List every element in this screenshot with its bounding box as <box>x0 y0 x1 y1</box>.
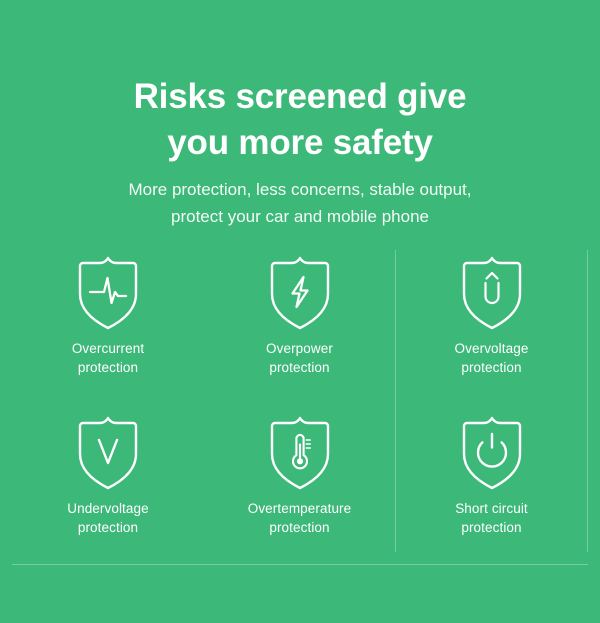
feature-cell-overcurrent: Overcurrent protection <box>12 245 204 405</box>
feature-cell-overtemperature: Overtemperature protection <box>204 405 396 565</box>
promo-banner: Risks screened give you more safety More… <box>0 0 600 623</box>
feature-label-line-2: protection <box>72 358 144 377</box>
feature-label-line-2: protection <box>455 358 529 377</box>
feature-label-line-2: protection <box>455 518 528 537</box>
shield-power-icon <box>456 411 528 493</box>
feature-label-overvoltage: Overvoltage protection <box>455 339 529 377</box>
feature-cell-overpower: Overpower protection <box>204 245 396 405</box>
feature-label-overcurrent: Overcurrent protection <box>72 339 144 377</box>
feature-label-line-2: protection <box>67 518 149 537</box>
feature-label-overpower: Overpower protection <box>266 339 333 377</box>
feature-label-line-2: protection <box>248 518 352 537</box>
page-title: Risks screened give you more safety <box>0 74 600 166</box>
shield-voltage-up-icon <box>456 251 528 333</box>
feature-cell-short-circuit: Short circuit protection <box>396 405 588 565</box>
feature-label-overtemperature: Overtemperature protection <box>248 499 352 537</box>
feature-label-line-1: Undervoltage <box>67 499 149 518</box>
page-title-line-2: you more safety <box>0 120 600 166</box>
shield-lightning-icon <box>264 251 336 333</box>
page-subtitle: More protection, less concerns, stable o… <box>0 176 600 230</box>
shield-thermometer-icon <box>264 411 336 493</box>
shield-pulse-icon <box>72 251 144 333</box>
feature-cell-undervoltage: Undervoltage protection <box>12 405 204 565</box>
feature-label-line-1: Overpower <box>266 339 333 358</box>
feature-label-short-circuit: Short circuit protection <box>455 499 528 537</box>
page-subtitle-line-2: protect your car and mobile phone <box>0 203 600 230</box>
feature-label-line-2: protection <box>266 358 333 377</box>
feature-label-line-1: Overcurrent <box>72 339 144 358</box>
page-title-line-1: Risks screened give <box>0 74 600 120</box>
feature-label-undervoltage: Undervoltage protection <box>67 499 149 537</box>
feature-label-line-1: Overtemperature <box>248 499 352 518</box>
protection-feature-grid: Overcurrent protection Overpower protect… <box>12 245 588 565</box>
feature-cell-overvoltage: Overvoltage protection <box>396 245 588 405</box>
shield-voltage-down-icon <box>72 411 144 493</box>
feature-label-line-1: Short circuit <box>455 499 528 518</box>
feature-label-line-1: Overvoltage <box>455 339 529 358</box>
page-subtitle-line-1: More protection, less concerns, stable o… <box>0 176 600 203</box>
